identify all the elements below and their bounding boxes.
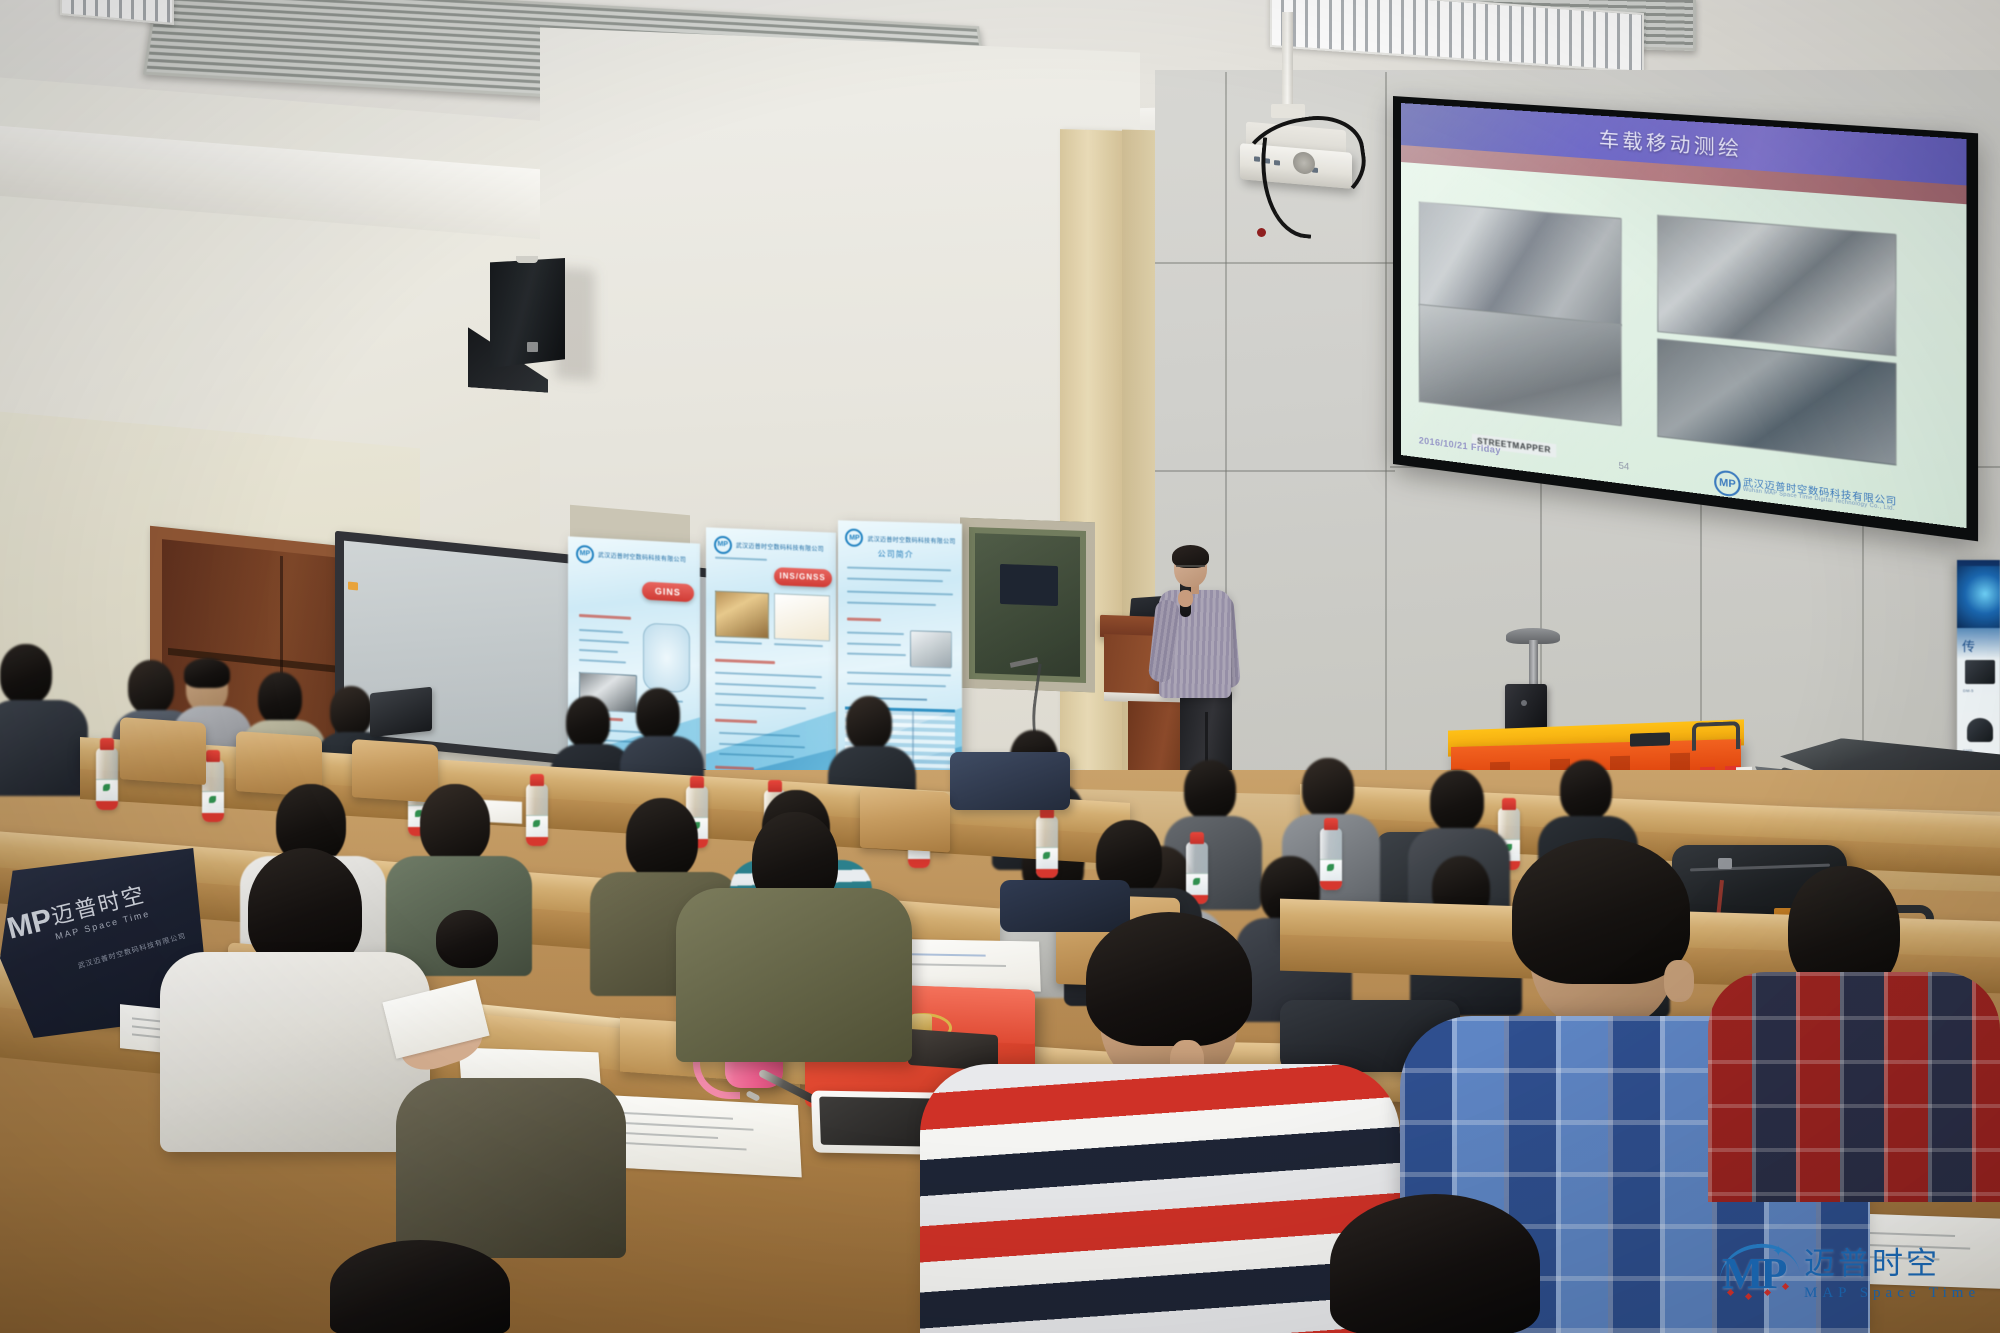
projection-screen[interactable]: 车载移动测绘 STREETMAPPER 2016/10/21 Friday 54… bbox=[1401, 103, 1967, 528]
banner-logo-icon: MP bbox=[576, 544, 594, 563]
attendee-ear bbox=[1664, 960, 1694, 1002]
scanner-lens-icon bbox=[1521, 700, 1527, 706]
slide-photo-field-team bbox=[1657, 338, 1896, 465]
seat-back bbox=[860, 788, 950, 853]
speaker-brand-logo bbox=[527, 342, 538, 352]
banner-device-image bbox=[1967, 718, 1993, 742]
projector-mount-plate bbox=[1271, 104, 1305, 118]
logo-star-icon: ✦ bbox=[1772, 1242, 1785, 1260]
presenter-hand bbox=[1178, 590, 1193, 607]
watermark: MP ✦ 迈普时空 MAP Space Time bbox=[1722, 1238, 1980, 1302]
laptop-bag bbox=[950, 752, 1070, 810]
window-equipment bbox=[1000, 564, 1058, 606]
water-bottle bbox=[96, 748, 118, 810]
panel-joint bbox=[1155, 262, 1395, 264]
banner-device-caption: DM-5 bbox=[1963, 688, 1974, 693]
slide-page-number: 54 bbox=[1619, 460, 1630, 472]
banner-company-name: 武汉迈普时空数码科技有限公司 bbox=[736, 541, 824, 554]
unit-control-box bbox=[1630, 732, 1670, 746]
banner-heading: 公司简介 bbox=[878, 548, 914, 560]
slide-photo-scanner-bench bbox=[1657, 215, 1896, 357]
speaker-handle bbox=[516, 256, 538, 263]
banner-badge: INS/GNSS bbox=[774, 567, 832, 587]
banner-badge: GINS bbox=[642, 581, 694, 602]
watermark-logo-icon: MP ✦ bbox=[1722, 1242, 1796, 1298]
banner-logo-icon: MP bbox=[845, 529, 863, 548]
handout-paper bbox=[598, 1095, 801, 1178]
banner-company-name: 武汉迈普时空数码科技有限公司 bbox=[598, 550, 686, 564]
banner-company-name: 武汉迈普时空数码科技有限公司 bbox=[867, 534, 955, 545]
antenna-mast bbox=[1529, 640, 1538, 688]
watermark-brand-en: MAP Space Time bbox=[1804, 1285, 1980, 1302]
shoulder-bag bbox=[1000, 880, 1130, 932]
seat-back bbox=[352, 739, 438, 803]
panel-joint bbox=[1385, 72, 1387, 792]
water-bottle bbox=[1320, 828, 1342, 890]
banner-heading: 传 bbox=[1962, 636, 1975, 655]
banner-logo-icon: MP bbox=[714, 535, 732, 554]
banner-ins-gnss: MP 武汉迈普时空数码科技有限公司 INS/GNSS bbox=[706, 527, 836, 794]
lecture-hall-photo: 车载移动测绘 STREETMAPPER 2016/10/21 Friday 54… bbox=[0, 0, 2000, 1333]
slide-title: 车载移动测绘 bbox=[1599, 123, 1743, 161]
eyeglasses-icon bbox=[1176, 565, 1205, 574]
tablet[interactable] bbox=[370, 687, 432, 738]
projector-cable-connector bbox=[1257, 228, 1266, 237]
backpack-zipper-pull bbox=[1718, 858, 1732, 869]
banner-hero-image bbox=[1957, 566, 2000, 628]
banner-device-image bbox=[1965, 660, 1995, 684]
water-bottle bbox=[526, 784, 548, 846]
laser-scanner-icon bbox=[1505, 684, 1547, 732]
whiteboard-marker-icon bbox=[348, 581, 358, 590]
unit-carry-handle bbox=[1692, 721, 1740, 751]
slide-logo-icon: MP bbox=[1714, 469, 1741, 498]
seat-back bbox=[120, 717, 206, 785]
panel-joint bbox=[1155, 470, 1395, 472]
projector-mount-pole bbox=[1282, 12, 1293, 114]
interior-window-glass bbox=[975, 533, 1080, 677]
watermark-brand-cn: 迈普时空 bbox=[1804, 1238, 1940, 1283]
slide-photo-street-vehicle: STREETMAPPER bbox=[1419, 304, 1622, 426]
water-bottle bbox=[1036, 816, 1058, 878]
